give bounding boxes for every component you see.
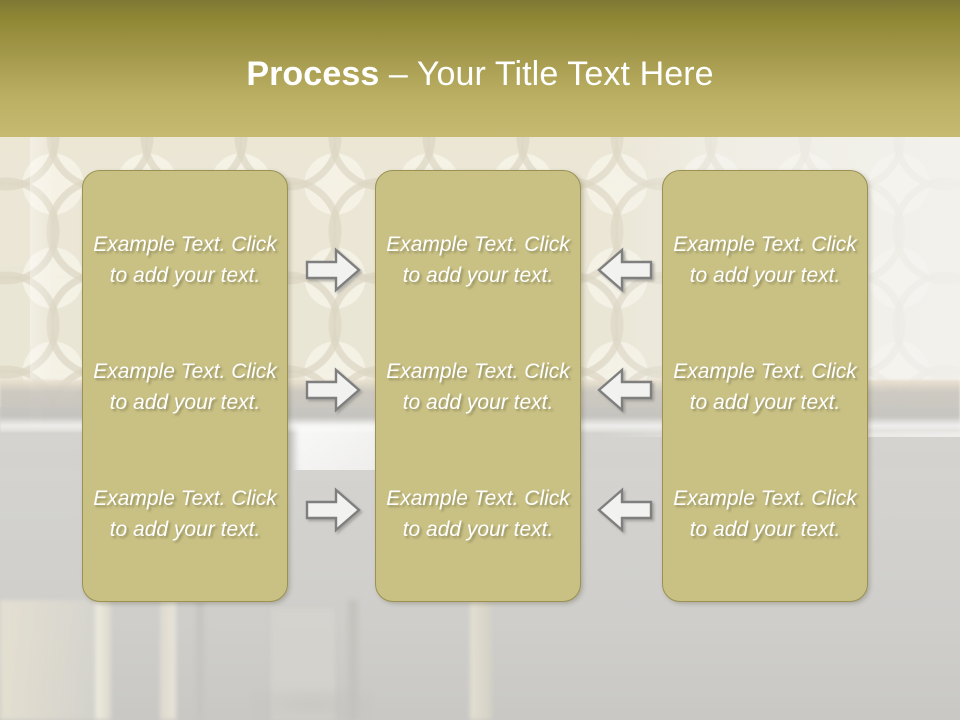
process-box-1[interactable]: Example Text. Click to add your text. Ex… xyxy=(82,170,288,602)
process-text-block[interactable]: Example Text. Click to add your text. xyxy=(93,356,277,418)
process-text-block[interactable]: Example Text. Click to add your text. xyxy=(93,229,277,291)
arrow-left-icon[interactable] xyxy=(597,487,653,533)
arrow-right-icon[interactable] xyxy=(305,487,361,533)
process-box-3[interactable]: Example Text. Click to add your text. Ex… xyxy=(662,170,868,602)
background-furniture-leg xyxy=(95,596,111,720)
background-furniture-leg xyxy=(470,600,492,720)
process-text-block[interactable]: Example Text. Click to add your text. xyxy=(673,483,857,545)
process-text-block[interactable]: Example Text. Click to add your text. xyxy=(673,229,857,291)
background-furniture-leg xyxy=(160,595,176,720)
page-title-strong: Process xyxy=(246,55,379,93)
arrow-right-icon[interactable] xyxy=(305,247,361,293)
arrow-right-icon[interactable] xyxy=(305,367,361,413)
process-text-block[interactable]: Example Text. Click to add your text. xyxy=(386,229,570,291)
process-text-block[interactable]: Example Text. Click to add your text. xyxy=(386,483,570,545)
arrow-left-icon[interactable] xyxy=(597,367,653,413)
process-text-block[interactable]: Example Text. Click to add your text. xyxy=(673,356,857,418)
background-furniture-leg xyxy=(0,600,95,720)
arrow-left-icon[interactable] xyxy=(597,247,653,293)
process-box-2[interactable]: Example Text. Click to add your text. Ex… xyxy=(375,170,581,602)
process-text-block[interactable]: Example Text. Click to add your text. xyxy=(93,483,277,545)
page-title-rest: – Your Title Text Here xyxy=(379,55,713,93)
page-title: Process – Your Title Text Here xyxy=(246,57,713,91)
background-furniture-shadow xyxy=(252,690,372,720)
background-furniture-leg xyxy=(196,600,204,720)
presentation-slide: Process – Your Title Text Here Example T… xyxy=(0,0,960,720)
slide-header: Process – Your Title Text Here xyxy=(0,0,960,137)
process-text-block[interactable]: Example Text. Click to add your text. xyxy=(386,356,570,418)
